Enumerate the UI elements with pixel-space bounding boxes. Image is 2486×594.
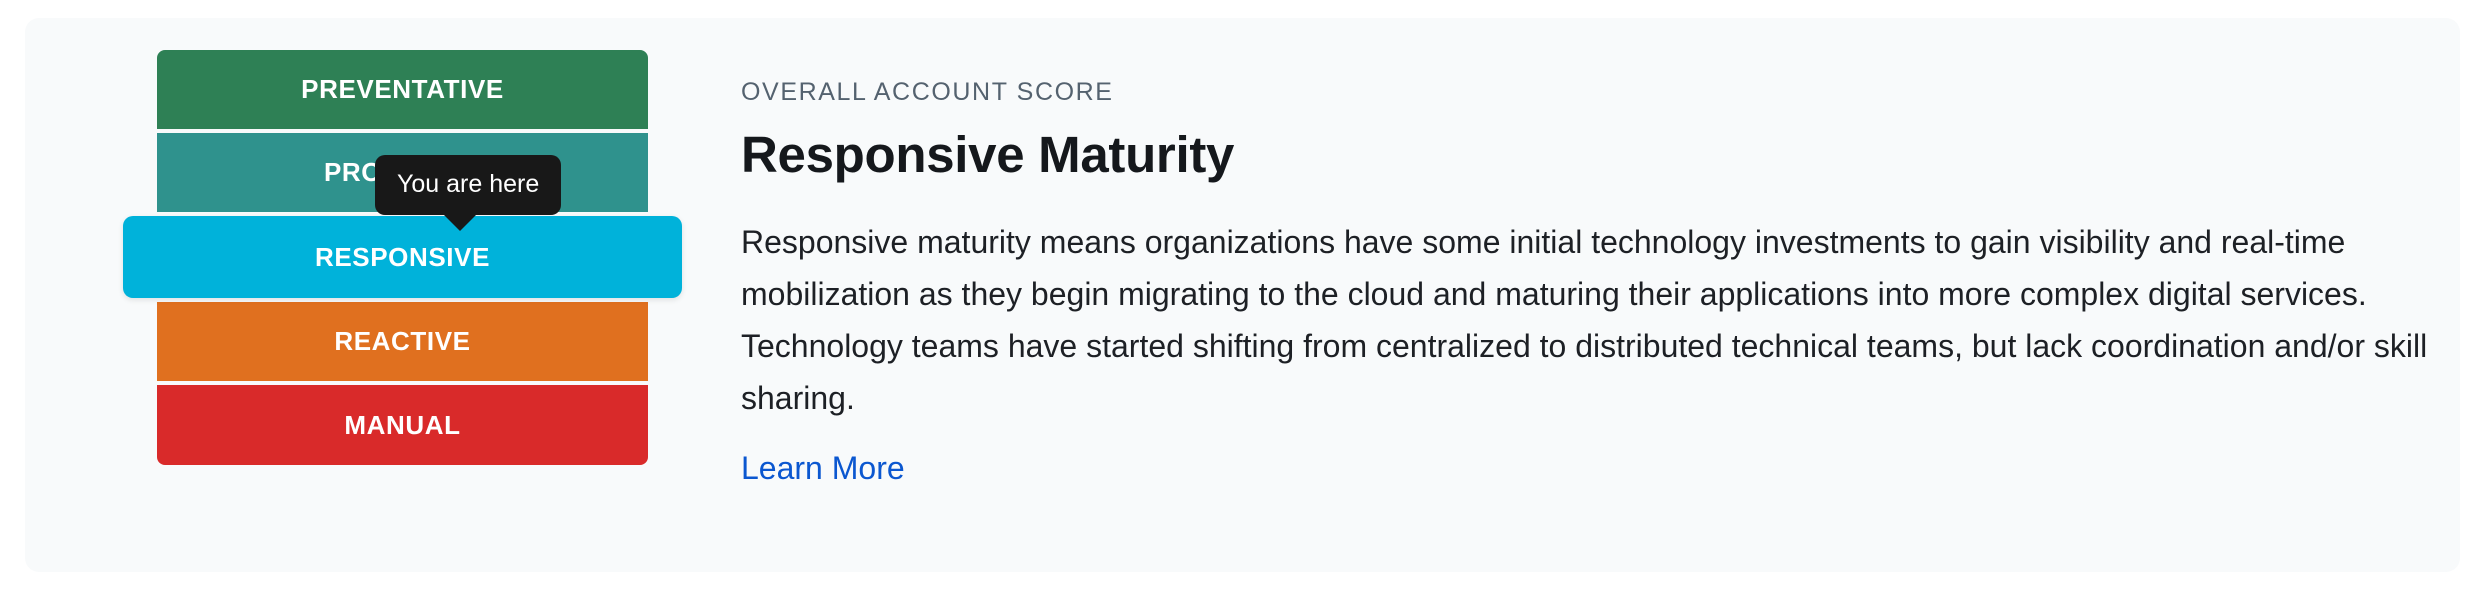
maturity-level-preventative[interactable]: PREVENTATIVE (157, 50, 648, 129)
you-are-here-tooltip: You are here (375, 155, 561, 215)
maturity-level-responsive-current[interactable]: RESPONSIVE (123, 216, 682, 298)
tooltip-pointer-icon (443, 214, 477, 231)
maturity-level-reactive[interactable]: REACTIVE (157, 302, 648, 381)
account-score-card: PREVENTATIVE PROACTIVE RESPONSIVE REACTI… (25, 18, 2460, 572)
learn-more-link[interactable]: Learn More (741, 450, 905, 487)
maturity-level-label: MANUAL (344, 410, 460, 441)
tooltip-label: You are here (397, 170, 539, 198)
tooltip-bubble: You are here (375, 155, 561, 215)
overall-account-score-label: OVERALL ACCOUNT SCORE (741, 78, 2441, 107)
maturity-level-label: REACTIVE (334, 326, 470, 357)
score-description-panel: OVERALL ACCOUNT SCORE Responsive Maturit… (741, 78, 2441, 487)
maturity-level-label: PREVENTATIVE (301, 74, 504, 105)
maturity-description: Responsive maturity means organizations … (741, 216, 2441, 424)
maturity-ladder: PREVENTATIVE PROACTIVE RESPONSIVE REACTI… (70, 50, 690, 520)
page-title: Responsive Maturity (741, 125, 2441, 184)
maturity-level-label: RESPONSIVE (315, 242, 490, 273)
maturity-level-manual[interactable]: MANUAL (157, 385, 648, 465)
